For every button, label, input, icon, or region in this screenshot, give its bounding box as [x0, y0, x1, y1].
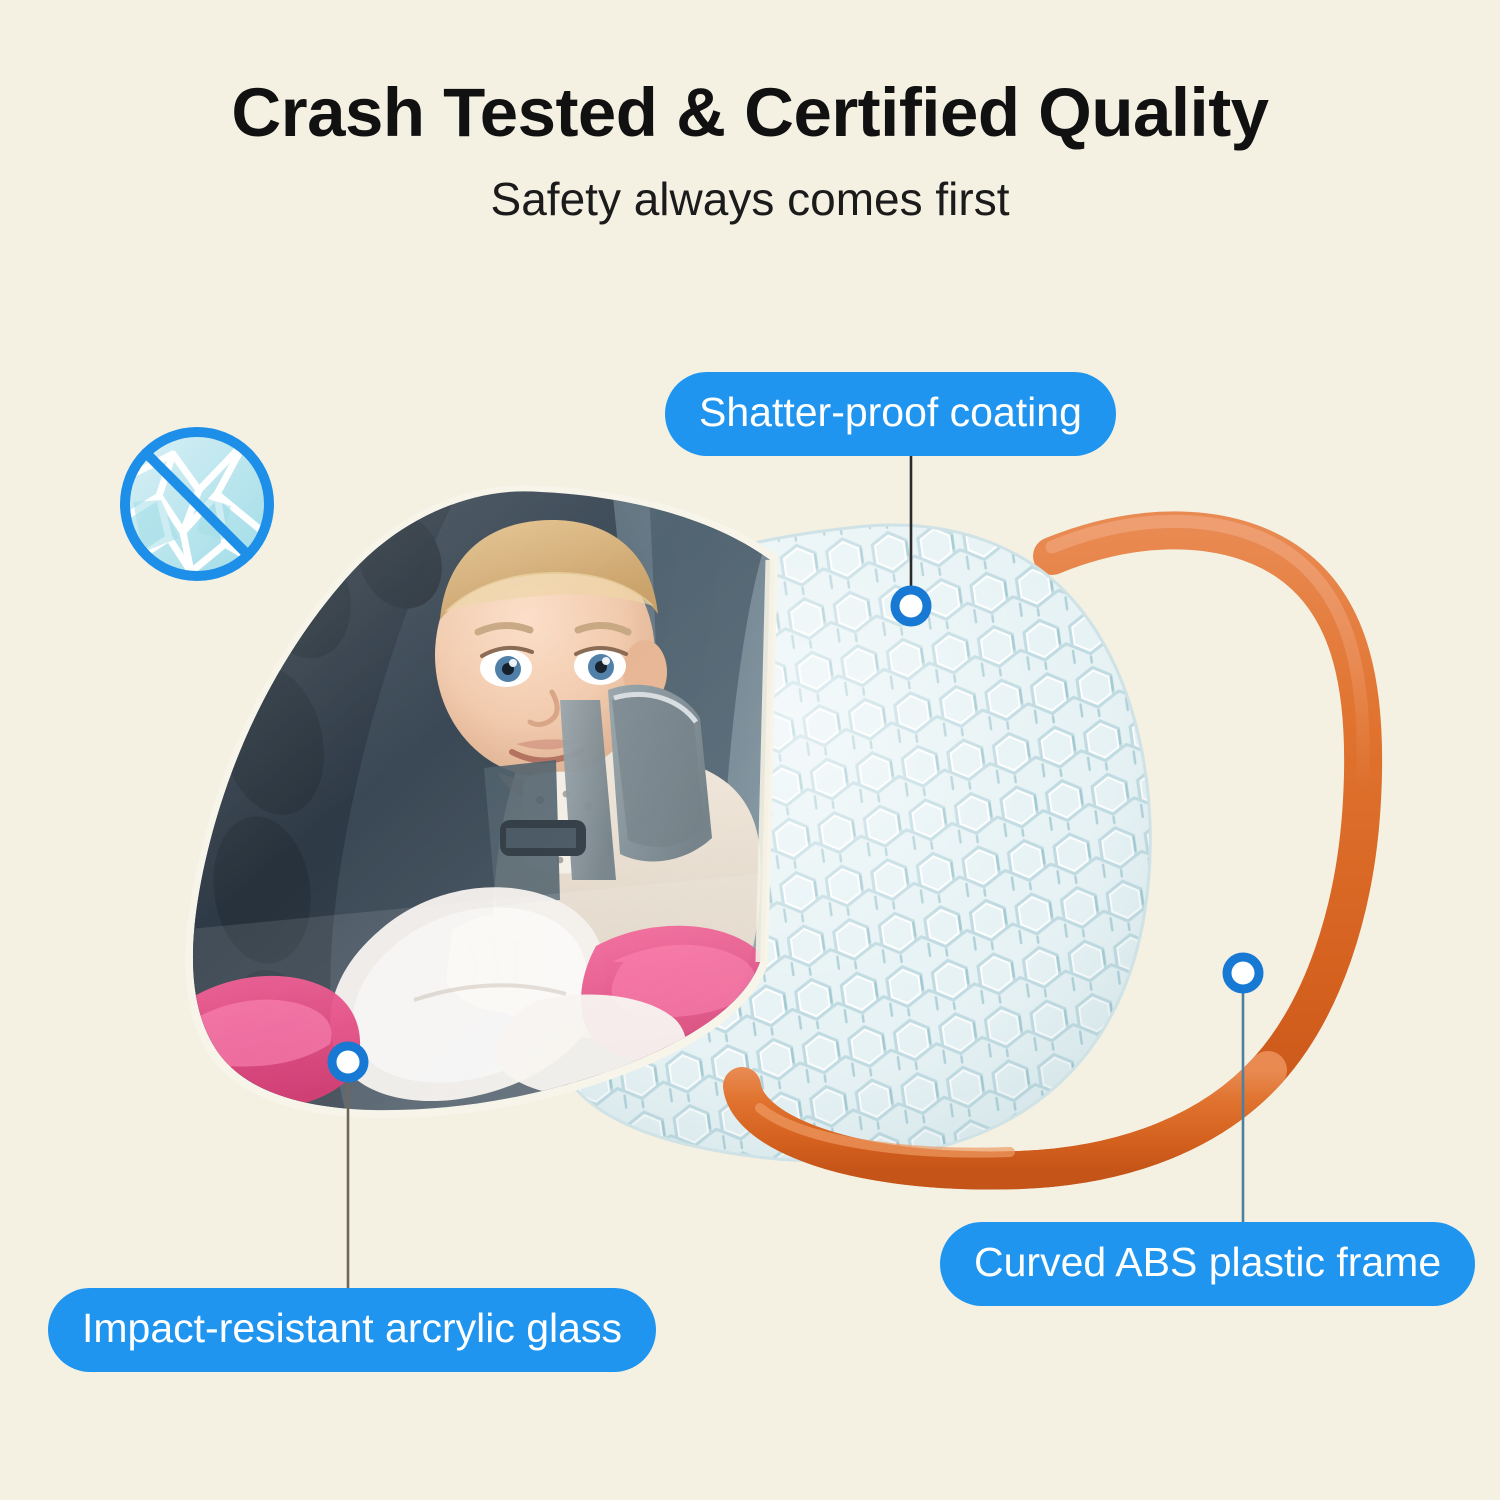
marker-dot-shatter-proof[interactable]: [895, 590, 927, 622]
callout-pill-curved-abs-plastic-frame[interactable]: Curved ABS plastic frame: [940, 1222, 1475, 1306]
infographic-canvas: Crash Tested & Certified Quality Safety …: [0, 0, 1500, 1500]
marker-dot-abs-frame[interactable]: [1227, 957, 1259, 989]
marker-dot-acrylic-glass[interactable]: [332, 1046, 364, 1078]
callout-pill-impact-resistant-acrylic-glass[interactable]: Impact-resistant arcrylic glass: [48, 1288, 656, 1372]
callout-pill-shatter-proof-coating[interactable]: Shatter-proof coating: [665, 372, 1116, 456]
